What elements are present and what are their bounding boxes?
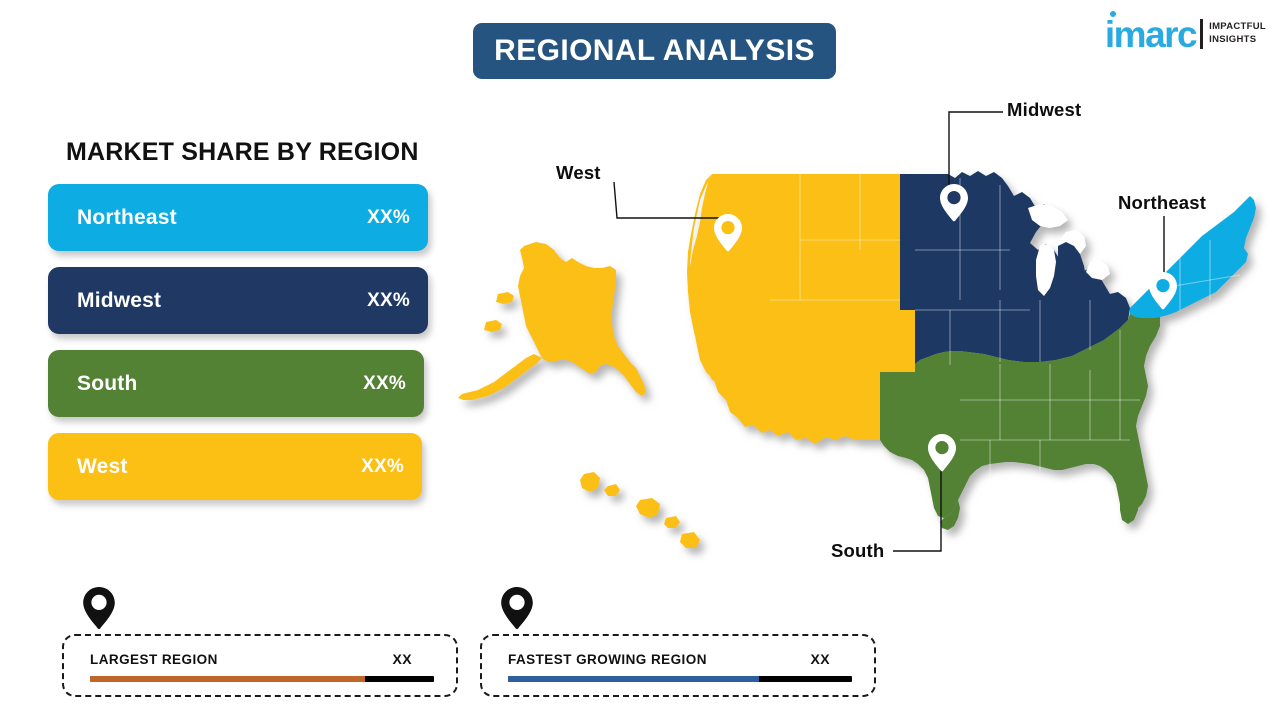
map-landmass-group xyxy=(458,171,1256,548)
map-pin-midwest-icon[interactable] xyxy=(940,184,968,221)
map-label-northeast: Northeast xyxy=(1118,192,1206,214)
region-value: XX% xyxy=(367,290,410,312)
region-label: South xyxy=(77,372,137,396)
map-region-hawaii-isle5[interactable] xyxy=(680,532,700,548)
stat-value: XX xyxy=(811,651,852,667)
map-great-lakes xyxy=(1028,204,1110,296)
logo-tagline-line2: INSIGHTS xyxy=(1209,34,1266,47)
region-label: West xyxy=(77,455,128,479)
leader-line-midwest xyxy=(949,112,1003,196)
map-alaska-isle1 xyxy=(484,320,502,332)
page-title-banner: REGIONAL ANALYSIS xyxy=(473,23,836,79)
logo-tagline: IMPACTFUL INSIGHTS xyxy=(1209,21,1266,47)
map-state-borders xyxy=(770,174,1240,476)
map-label-south: South xyxy=(831,540,884,562)
map-pin-icon xyxy=(500,586,534,635)
stat-value: XX xyxy=(393,651,434,667)
market-share-bar-list: Northeast XX% Midwest XX% South XX% West… xyxy=(48,184,440,516)
map-region-hawaii-isle2[interactable] xyxy=(604,484,620,496)
map-pin-south-icon[interactable] xyxy=(928,434,956,471)
imarc-logo: imarc IMPACTFUL INSIGHTS xyxy=(1105,12,1266,56)
largest-region-box: LARGEST REGION XX xyxy=(62,634,458,697)
largest-region-card: LARGEST REGION XX xyxy=(62,634,458,697)
market-share-row-midwest[interactable]: Midwest XX% xyxy=(48,267,428,334)
logo-wordmark: imarc xyxy=(1105,16,1196,53)
market-share-heading: MARKET SHARE BY REGION xyxy=(66,138,419,167)
region-value: XX% xyxy=(361,456,404,478)
map-region-midwest[interactable] xyxy=(900,171,1130,364)
map-pin-west-icon[interactable] xyxy=(714,214,742,251)
map-region-hawaii-isle3[interactable] xyxy=(636,498,660,518)
map-region-west[interactable] xyxy=(689,174,915,444)
market-share-row-northeast[interactable]: Northeast XX% xyxy=(48,184,428,251)
region-value: XX% xyxy=(367,207,410,229)
logo-tagline-line1: IMPACTFUL xyxy=(1209,21,1266,34)
map-region-hawaii-isle1[interactable] xyxy=(580,472,600,492)
map-region-west-coast-detail xyxy=(687,174,717,382)
leader-line-west xyxy=(614,182,723,218)
market-share-row-west[interactable]: West XX% xyxy=(48,433,422,500)
fastest-growing-region-box: FASTEST GROWING REGION XX xyxy=(480,634,876,697)
stat-progress-fill xyxy=(508,676,759,682)
region-value: XX% xyxy=(363,373,406,395)
stat-label: FASTEST GROWING REGION xyxy=(508,652,707,667)
map-region-south[interactable] xyxy=(880,314,1160,518)
map-state-texas-tail xyxy=(940,500,960,530)
logo-divider xyxy=(1200,19,1203,49)
map-leader-lines xyxy=(614,112,1164,551)
region-label: Northeast xyxy=(77,206,177,230)
stat-progress-fill xyxy=(90,676,365,682)
map-pin-icon xyxy=(82,586,116,635)
region-label: Midwest xyxy=(77,289,161,313)
map-state-florida xyxy=(1118,470,1138,524)
map-pin-northeast-icon[interactable] xyxy=(1149,272,1177,309)
leader-line-south xyxy=(893,468,941,551)
stat-progress-track xyxy=(90,676,434,682)
market-share-row-south[interactable]: South XX% xyxy=(48,350,424,417)
map-region-northeast[interactable] xyxy=(1130,196,1256,318)
page-title: REGIONAL ANALYSIS xyxy=(494,34,815,68)
fastest-growing-region-card: FASTEST GROWING REGION XX xyxy=(480,634,876,697)
map-region-hawaii-isle4[interactable] xyxy=(664,516,680,528)
map-label-west: West xyxy=(556,162,601,184)
map-state-michigan xyxy=(1058,242,1086,306)
map-alaska-isle2 xyxy=(496,292,514,304)
stat-progress-track xyxy=(508,676,852,682)
stat-label: LARGEST REGION xyxy=(90,652,218,667)
map-region-alaska[interactable] xyxy=(518,242,646,396)
map-label-midwest: Midwest xyxy=(1007,99,1081,121)
map-pin-markers xyxy=(714,184,1177,471)
map-alaska-peninsula xyxy=(458,354,542,400)
logo-dot-icon xyxy=(1110,11,1116,17)
